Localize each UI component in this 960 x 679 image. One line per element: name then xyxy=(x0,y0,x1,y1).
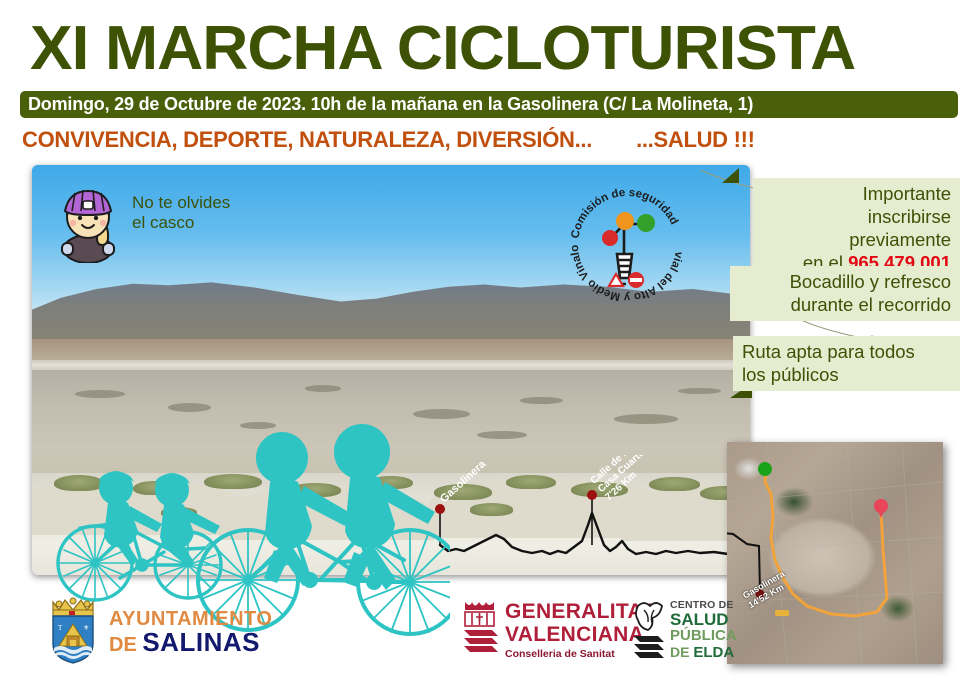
helmet-hint-line2: el casco xyxy=(132,213,230,233)
elda-emblem-icon xyxy=(632,600,668,658)
centro-salud-line4: DE ELDA xyxy=(670,644,737,661)
tagline-left: CONVIVENCIA, DEPORTE, NATURALEZA, DIVERS… xyxy=(22,127,592,152)
page-title: XI MARCHA CICLOTURISTA xyxy=(30,16,960,82)
elev-marker1-label: Gasolinera xyxy=(438,458,489,506)
panel3-line2: los públicos xyxy=(742,363,951,386)
panel1-line1: Importante xyxy=(762,182,951,205)
map-end-marker xyxy=(874,499,888,518)
centro-salud-logo-text: CENTRO DE SALUD PÚBLICA DE ELDA xyxy=(670,599,737,661)
logo-centro-salud-publica-elda: CENTRO DE SALUD PÚBLICA DE ELDA xyxy=(632,596,767,668)
info-panel-registration: Importante inscribirse previamente en el… xyxy=(753,178,960,279)
panel3-line1: Ruta apta para todos xyxy=(742,340,951,363)
info-panel-route-suitability: Ruta apta para todos los públicos xyxy=(733,336,960,391)
centro-salud-line3: PÚBLICA xyxy=(670,628,737,644)
centro-salud-de: DE xyxy=(670,644,693,660)
generalitat-crown-stripes-icon xyxy=(462,600,498,652)
tagline: CONVIVENCIA, DEPORTE, NATURALEZA, DIVERS… xyxy=(22,127,952,153)
main-photo: No te olvides el casco Comisión de segur… xyxy=(32,165,750,575)
centro-salud-line2: SALUD xyxy=(670,611,737,628)
panel2-line2: durante el recorrido xyxy=(739,293,951,316)
panel2-line1: Bocadillo y refresco xyxy=(739,270,951,293)
poster-root: XI MARCHA CICLOTURISTA Domingo, 29 de Oc… xyxy=(0,0,960,679)
svg-text:⚜: ⚜ xyxy=(83,624,89,632)
logo-generalitat-valenciana: GENERALITAT VALENCIANA Conselleria de Sa… xyxy=(462,598,642,666)
helmet-hint-text: No te olvides el casco xyxy=(132,193,230,233)
helmet-hint-line1: No te olvides xyxy=(132,193,230,213)
salinas-logo-text: AYUNTAMIENTO DE SALINAS xyxy=(109,608,272,657)
elevation-profile: Gasolinera Calle de la Casa Cuartel 7'26… xyxy=(422,455,750,565)
salinas-name: SALINAS xyxy=(142,627,260,657)
map-start-marker xyxy=(758,462,772,476)
salinas-coat-of-arms-icon: T ⚜ xyxy=(45,596,101,664)
event-details-text: Domingo, 29 de Octubre de 2023. 10h de l… xyxy=(20,94,753,115)
panel1-line2: inscribirse previamente xyxy=(762,205,951,251)
helmet-girl-icon xyxy=(54,183,122,263)
event-details-bar: Domingo, 29 de Octubre de 2023. 10h de l… xyxy=(20,91,958,118)
road-safety-commission-logo: Comisión de seguridad vial del Alto y Me… xyxy=(562,180,692,310)
svg-text:T: T xyxy=(58,624,63,632)
tagline-right: ...SALUD !!! xyxy=(636,127,755,152)
centro-salud-elda: ELDA xyxy=(693,644,734,661)
info-panel-refreshments: Bocadillo y refresco durante el recorrid… xyxy=(730,266,960,321)
logo-ayuntamiento-salinas: T ⚜ AYUNTAMIENTO DE SALINAS xyxy=(45,596,260,668)
salinas-de: DE xyxy=(109,634,142,656)
panel1-pointer-arrow xyxy=(722,168,739,183)
salinas-line2: DE SALINAS xyxy=(109,630,272,657)
